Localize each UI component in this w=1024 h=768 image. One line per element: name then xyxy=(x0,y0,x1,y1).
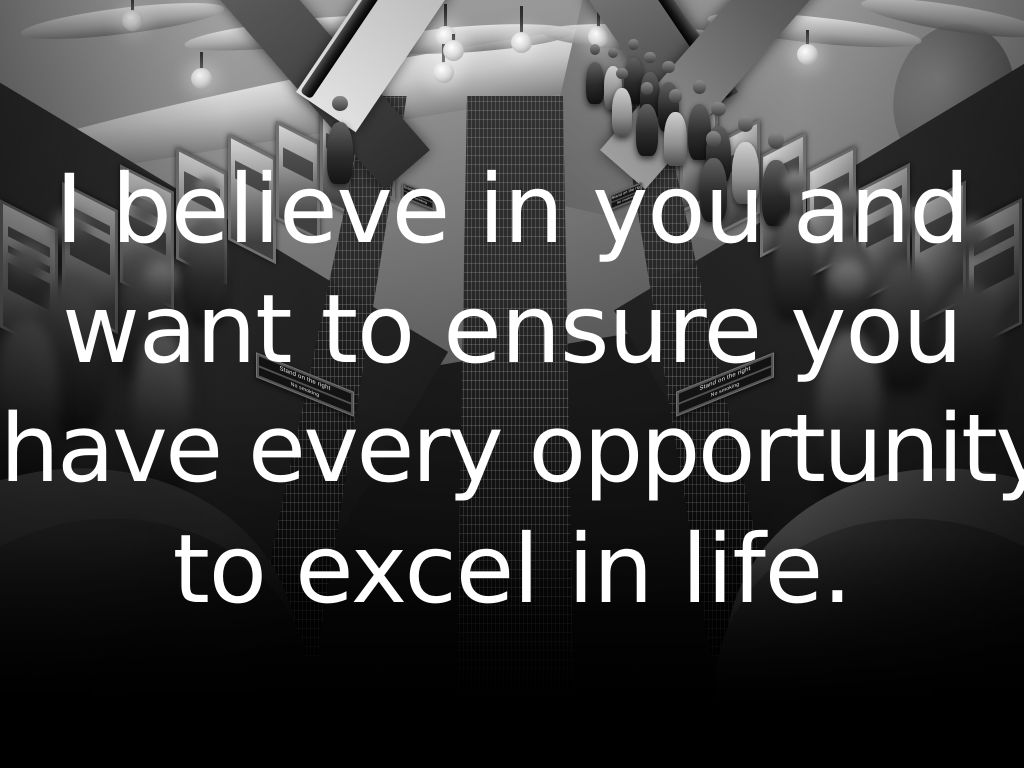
ceiling-lamp xyxy=(131,0,134,14)
commuter xyxy=(612,88,632,136)
ceiling-lamp xyxy=(200,52,203,72)
ceiling-lamp xyxy=(806,30,809,48)
quote-line-1: I believe in you and xyxy=(0,150,1024,270)
quote-slide: Stand on the right No smoking Stand on t… xyxy=(0,0,1024,768)
ceiling-lamp xyxy=(452,34,455,44)
ceiling-lamp xyxy=(444,4,447,30)
ceiling-lamp xyxy=(520,6,523,36)
quote-line-3: have every opportunity xyxy=(0,390,1024,510)
commuter xyxy=(636,104,658,156)
quote-line-2: want to ensure you xyxy=(0,270,1024,390)
quote-text: I believe in you and want to ensure you … xyxy=(0,150,1024,630)
commuter xyxy=(586,62,604,104)
quote-line-4: to excel in life. xyxy=(0,510,1024,630)
